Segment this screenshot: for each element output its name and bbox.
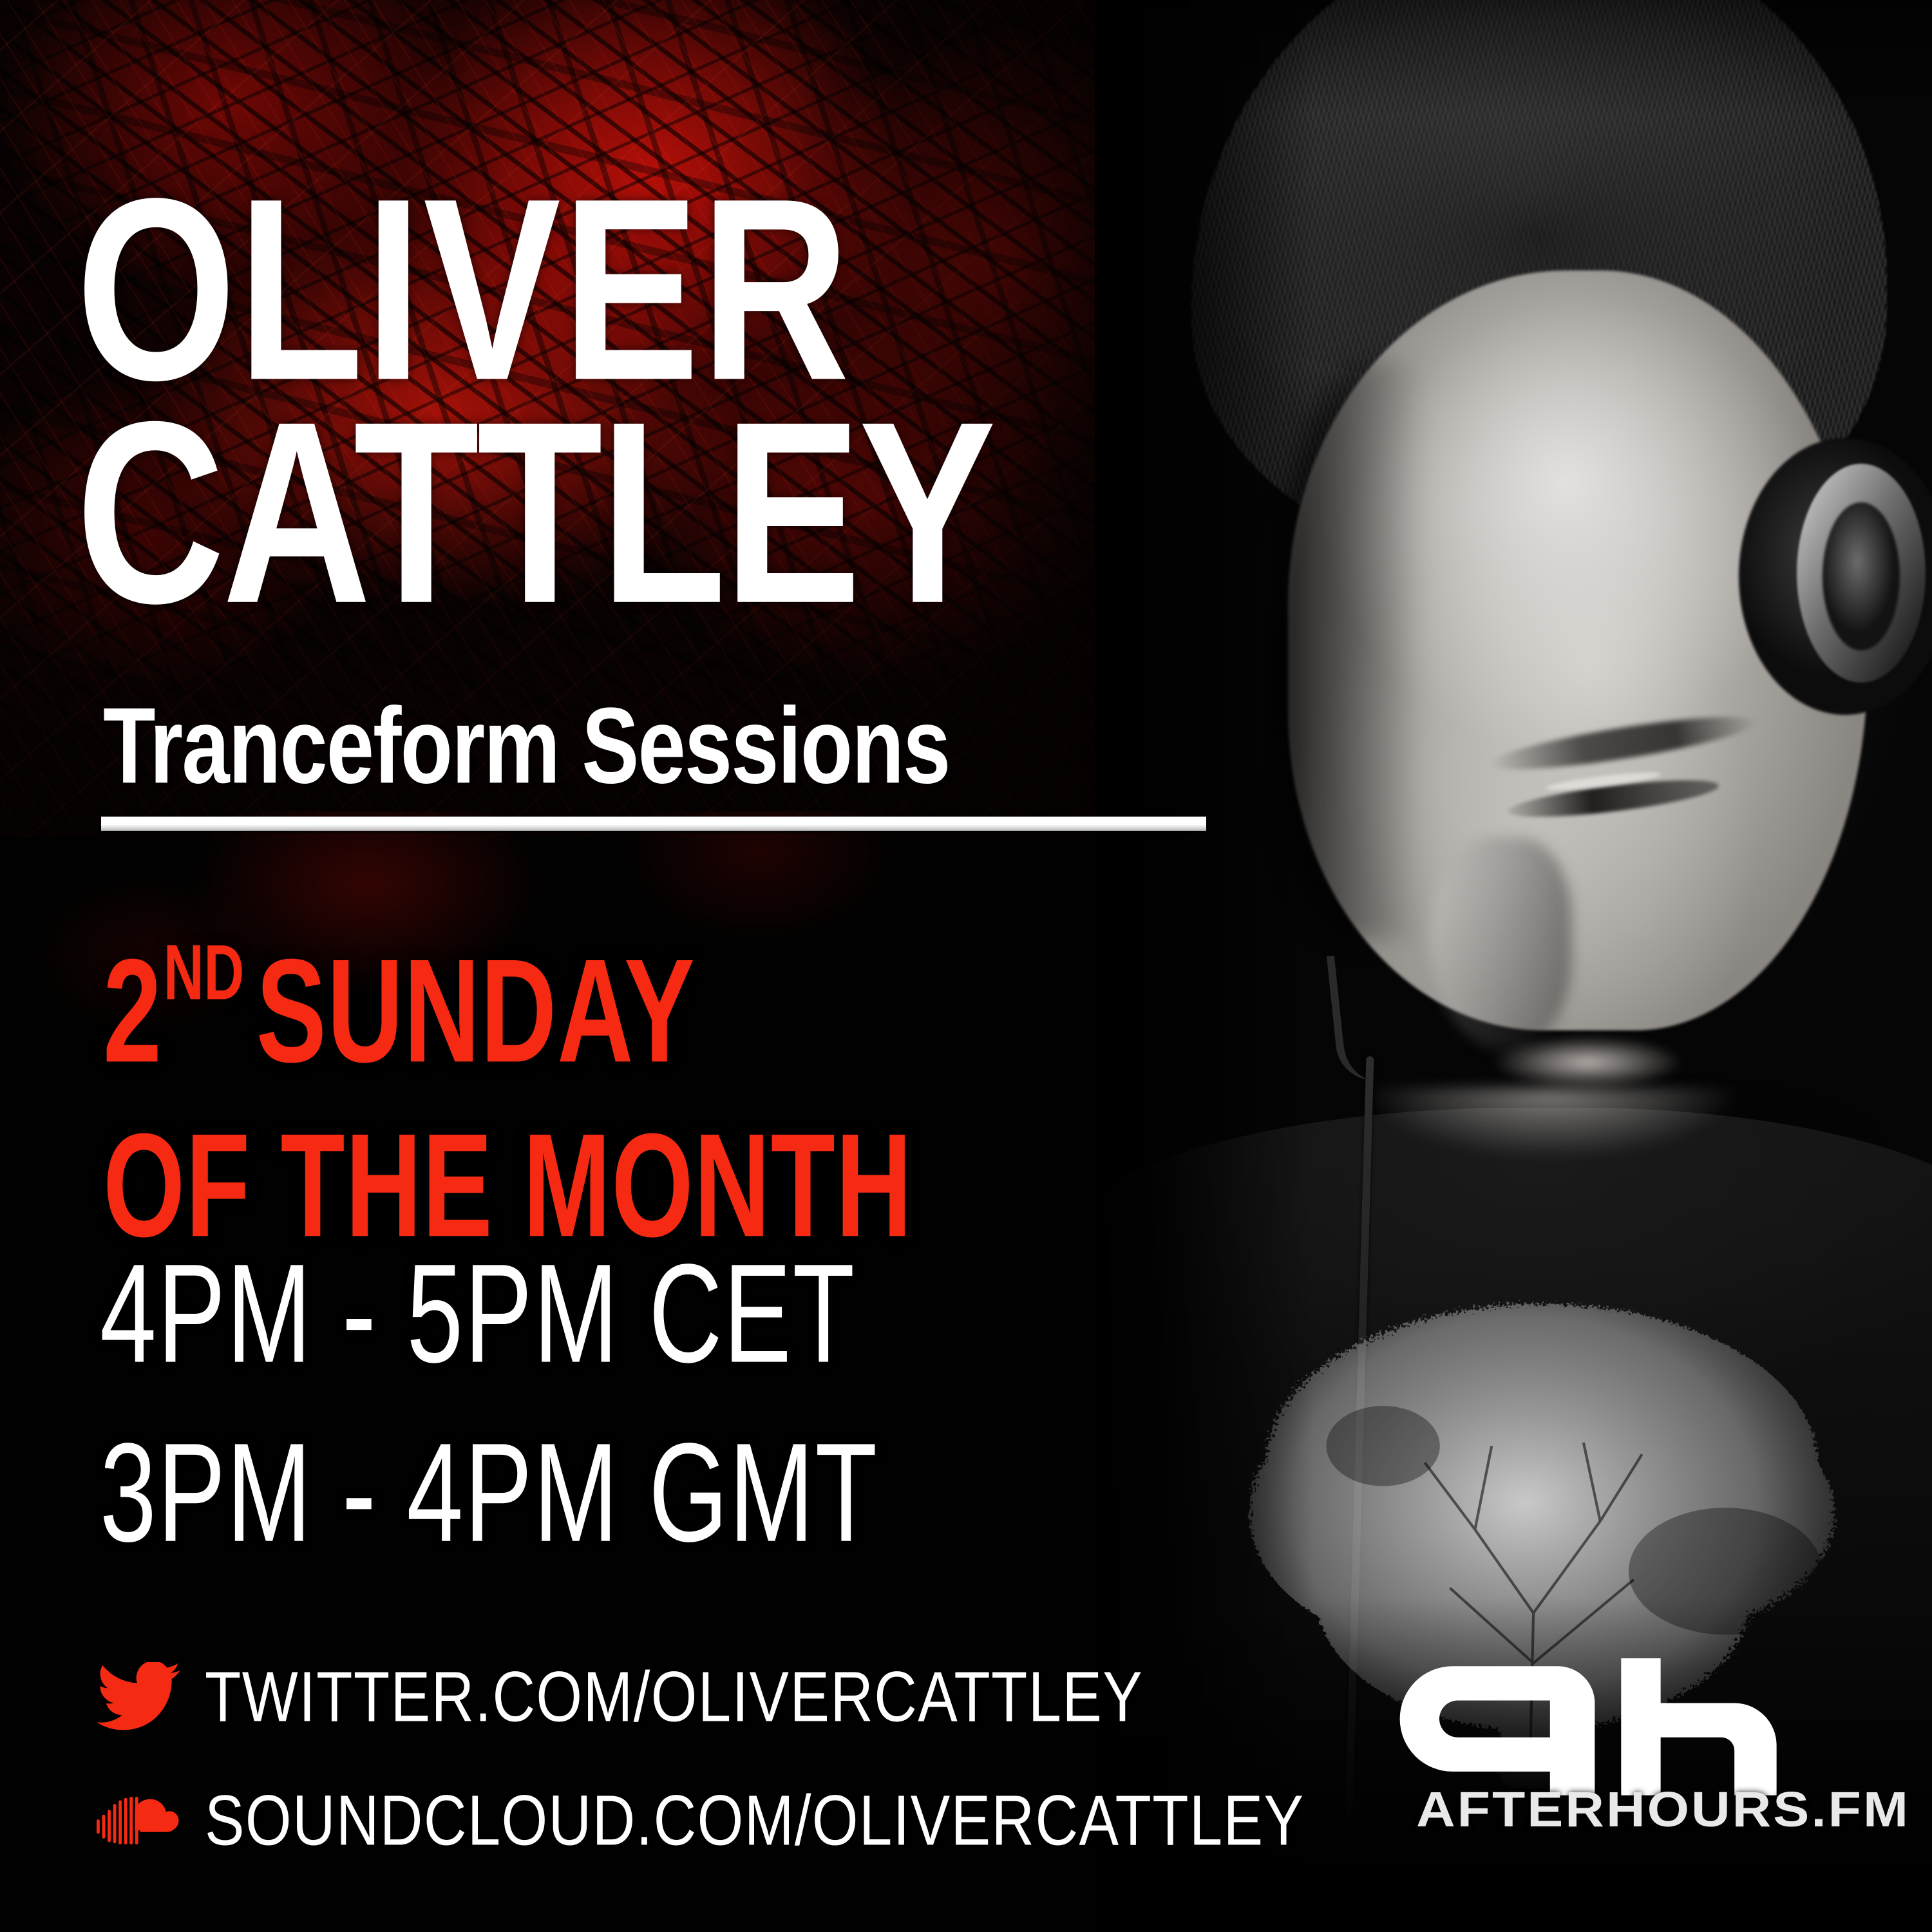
divider-rule	[101, 817, 1206, 831]
promo-poster: OLIVER CATTLEY Tranceform Sessions 2NDSU…	[0, 0, 1932, 1932]
social-links: TWITTER.COM/OLIVERCATTLEY	[97, 1649, 1256, 1896]
afterhours-wordmark: AFTERHOURS.FM	[1416, 1781, 1910, 1838]
social-link-soundcloud[interactable]: SOUNDCLOUD.COM/OLIVERCATTLEY	[97, 1772, 1256, 1869]
schedule-day: SUNDAY	[256, 929, 696, 1094]
twitter-url-text[interactable]: TWITTER.COM/OLIVERCATTLEY	[205, 1656, 1143, 1738]
broadcast-times: 4PM - 5PM CET 3PM - 4PM GMT	[100, 1243, 878, 1563]
schedule-ordinal-number: 2	[103, 929, 162, 1094]
schedule-ordinal-suffix: ND	[164, 929, 244, 1016]
soundcloud-url-text[interactable]: SOUNDCLOUD.COM/OLIVERCATTLEY	[205, 1779, 1304, 1862]
poster-content: OLIVER CATTLEY Tranceform Sessions 2NDSU…	[0, 0, 1932, 1932]
time-gmt: 3PM - 4PM GMT	[100, 1422, 878, 1562]
schedule-day-line: 2NDSUNDAY	[103, 934, 913, 1085]
social-link-twitter[interactable]: TWITTER.COM/OLIVERCATTLEY	[97, 1649, 1256, 1745]
soundcloud-icon[interactable]	[97, 1779, 180, 1862]
artist-name-line2: CATTLEY	[76, 401, 1213, 623]
time-cet: 4PM - 5PM CET	[100, 1243, 878, 1383]
artist-name: OLIVER CATTLEY	[76, 178, 1213, 623]
show-title: Tranceform Sessions	[103, 684, 949, 809]
schedule-heading: 2NDSUNDAY OF THE MONTH	[103, 934, 913, 1259]
twitter-icon[interactable]	[97, 1655, 180, 1739]
afterhours-fm-logo[interactable]: AFTERHOURS.FM	[1388, 1658, 1851, 1871]
